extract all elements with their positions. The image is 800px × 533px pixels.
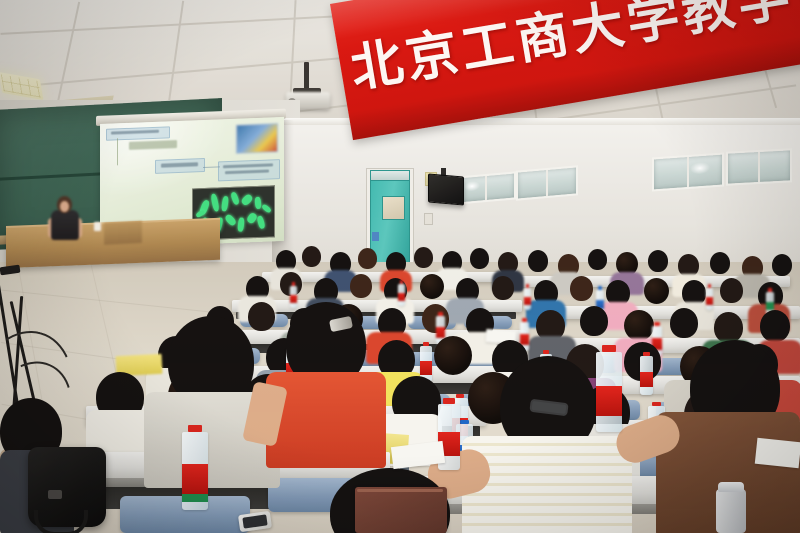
water-bottle xyxy=(290,286,297,308)
student-head xyxy=(624,310,654,341)
notebook-page-edge xyxy=(357,489,443,492)
student-head xyxy=(528,250,548,272)
thermos-cap xyxy=(718,482,744,492)
clerestory-window-3 xyxy=(652,152,724,191)
projector-mount-pole xyxy=(304,62,309,90)
student-head xyxy=(772,254,792,276)
backpack-strap xyxy=(34,510,88,533)
student-head xyxy=(760,310,790,342)
cup-on-podium xyxy=(94,222,101,231)
student-head xyxy=(350,274,372,298)
light-switch[interactable] xyxy=(424,213,433,225)
lecture-hall-photo: 北京工商大学教学优秀奖理工 xyxy=(0,0,800,533)
student-head xyxy=(570,276,593,301)
student-head xyxy=(710,252,730,274)
student-head xyxy=(580,306,608,336)
notebook xyxy=(355,487,447,533)
slide-stem-line xyxy=(117,138,118,165)
water-bottle xyxy=(706,288,713,310)
thermos-flask xyxy=(716,489,746,533)
student-head xyxy=(414,247,433,268)
student-head xyxy=(670,308,698,338)
student-head xyxy=(358,248,377,269)
student-head xyxy=(420,274,444,299)
presenter-body xyxy=(51,210,79,240)
student-head xyxy=(720,278,743,303)
water-bottle xyxy=(524,288,531,310)
water-bottle xyxy=(398,284,405,306)
slide-logo-image xyxy=(236,123,278,154)
student-head xyxy=(470,248,489,269)
student-head xyxy=(248,302,275,331)
student-head xyxy=(644,278,669,304)
student-head xyxy=(492,276,514,300)
student-torso-foreground xyxy=(462,436,632,533)
door-sign xyxy=(372,232,379,241)
clerestory-window-2 xyxy=(516,165,578,200)
clerestory-window-1 xyxy=(456,171,516,204)
lectern xyxy=(104,221,142,245)
student-torso-foreground xyxy=(266,372,386,468)
student-head xyxy=(714,312,743,343)
student-head xyxy=(648,250,668,272)
handout-paper xyxy=(755,438,800,468)
wall-speaker-icon xyxy=(428,173,464,205)
water-bottle-foreground xyxy=(182,432,208,510)
student-head xyxy=(434,336,472,375)
door-window xyxy=(382,196,405,220)
presenter-face xyxy=(60,201,69,212)
student-head xyxy=(588,249,607,270)
backpack-tag xyxy=(48,490,62,499)
student-head xyxy=(302,246,321,267)
clerestory-window-4 xyxy=(726,148,792,185)
water-bottle-foreground xyxy=(596,352,622,432)
water-bottle xyxy=(640,356,653,395)
